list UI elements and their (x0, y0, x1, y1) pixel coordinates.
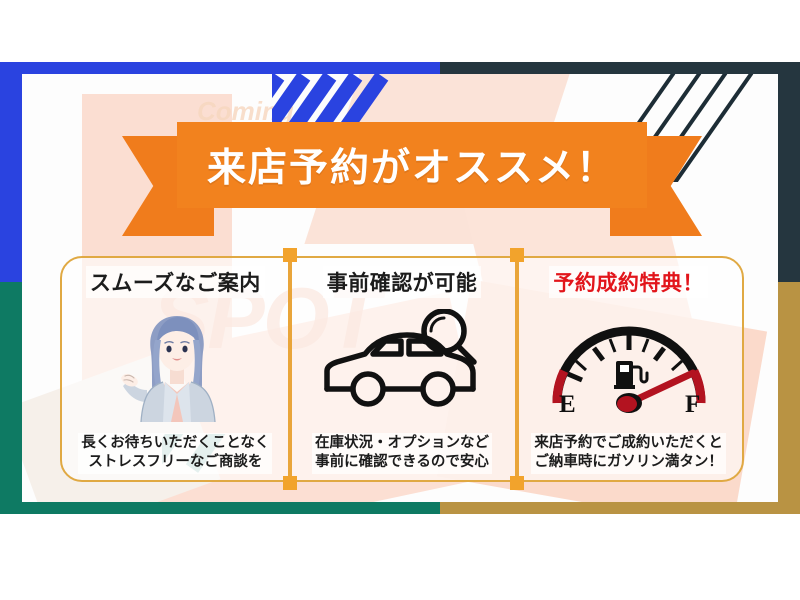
car-magnifier-icon-svg (317, 309, 487, 421)
ribbon-body: 来店予約がオススメ！ (177, 122, 647, 208)
frame-band-right-lower (778, 282, 800, 514)
frame-band-bottom-right (440, 502, 800, 514)
frame-band-top-right (440, 62, 800, 74)
panel-title: スムーズなご案内 (86, 266, 265, 298)
headline-text: 来店予約がオススメ！ (207, 137, 617, 193)
fuel-pump-glyph (614, 361, 647, 389)
gauge-label-full: F (685, 391, 700, 418)
fuel-gauge-icon-svg: E F (545, 311, 713, 419)
frame-band-left-lower (0, 282, 22, 514)
feature-panel-advance-check: 事前確認が可能 (289, 258, 516, 480)
panel-caption-line2: ご納車時にガソリン満タン！ (534, 453, 723, 473)
frame-band-top-left (0, 62, 440, 74)
panel-title: 事前確認が可能 (323, 266, 482, 298)
panel-caption-line1: 長くお待ちいただくことなく (81, 434, 269, 454)
car-magnifier-illustration (289, 298, 516, 433)
panel-caption-line2: ストレスフリーなご商談を (81, 453, 269, 473)
female-staff-illustration-svg (121, 306, 229, 424)
panel-caption-line2: 事前に確認できるので安心 (315, 453, 489, 473)
panel-caption: 長くお待ちいただくことなく ストレスフリーなご商談を (78, 433, 272, 474)
frame-band-bottom-left (0, 502, 440, 514)
panel-caption: 来店予約でご成約いただくと ご納車時にガソリン満タン！ (531, 433, 726, 474)
headline-ribbon: 来店予約がオススメ！ (122, 122, 702, 208)
framed-card: Coming SPOT (0, 62, 800, 514)
feature-panel-reservation-bonus: 予約成約特典！ (515, 258, 742, 480)
poster-canvas: Coming SPOT (0, 0, 800, 600)
panel-caption-line1: 在庫状況・オプションなど (315, 434, 489, 454)
frame-band-left-upper (0, 62, 22, 294)
staff-illustration (62, 298, 289, 433)
fuel-gauge-illustration: E F (515, 298, 742, 433)
gauge-label-empty: E (559, 391, 576, 418)
panel-title: 予約成約特典！ (549, 266, 708, 298)
feature-panel-smooth-guidance: スムーズなご案内 (62, 258, 289, 480)
panel-caption-line1: 来店予約でご成約いただくと (534, 434, 723, 454)
feature-panel-group: スムーズなご案内 (60, 256, 744, 482)
panel-caption: 在庫状況・オプションなど 事前に確認できるので安心 (312, 433, 492, 474)
frame-band-right-upper (778, 62, 800, 294)
card-inner-plate: Coming SPOT (22, 74, 778, 502)
